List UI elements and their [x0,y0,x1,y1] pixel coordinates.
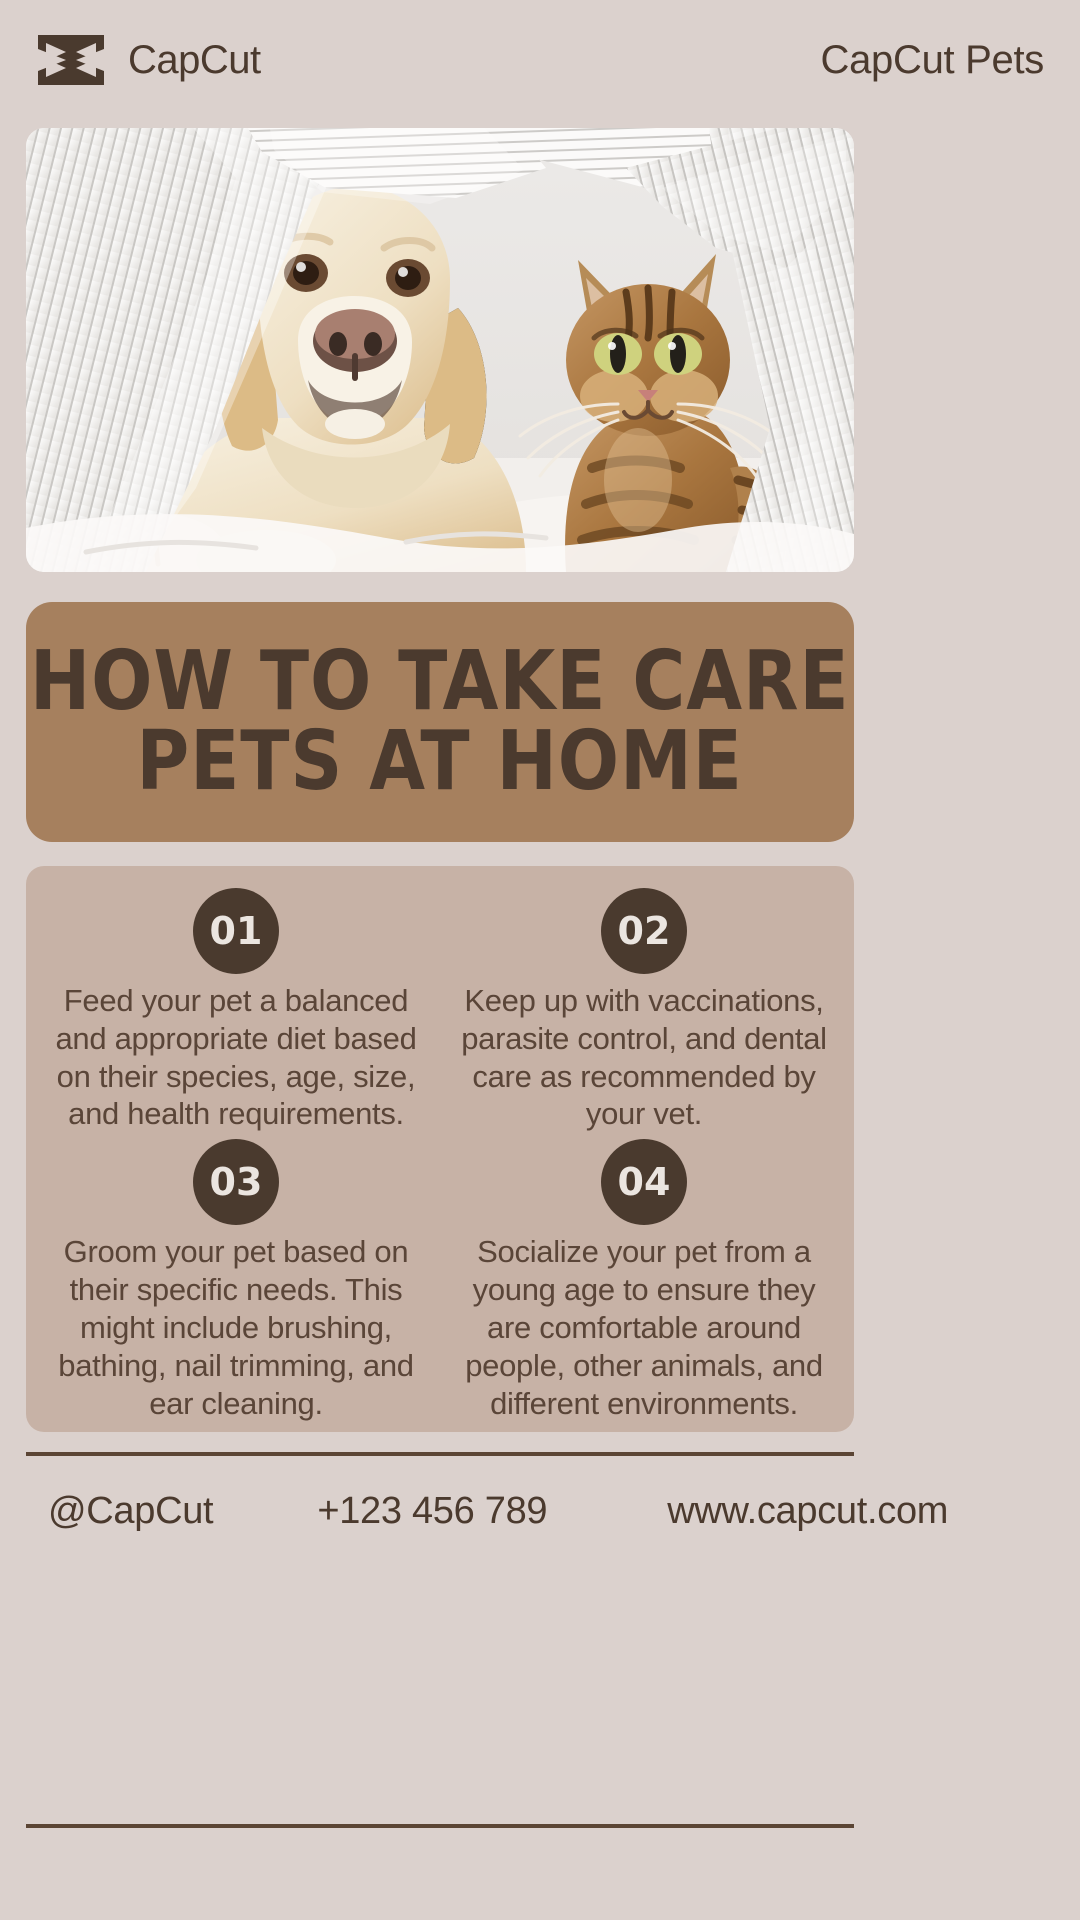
brand-name: CapCut [128,38,261,83]
title-banner: HOW TO TAKE CARE PETS AT HOME [26,602,854,842]
footer-social-handle[interactable]: @CapCut [48,1490,213,1533]
tip-number-badge: 01 [193,888,279,974]
tip-text: Feed your pet a balanced and appropriate… [50,982,422,1133]
title-line-1: HOW TO TAKE CARE [30,642,850,722]
tip-item-03: 03 Groom your pet based on their specifi… [40,1139,432,1422]
tip-number-badge: 02 [601,888,687,974]
tip-item-04: 04 Socialize your pet from a young age t… [448,1139,840,1422]
capcut-logo-icon [32,29,110,91]
tips-card: 01 Feed your pet a balanced and appropri… [26,866,854,1432]
tip-number-badge: 03 [193,1139,279,1225]
tip-number-badge: 04 [601,1139,687,1225]
infographic-poster: CapCut CapCut Pets [0,0,1080,1920]
tip-text: Groom your pet based on their specific n… [50,1233,422,1422]
footer-divider-bottom [26,1824,854,1828]
tip-item-02: 02 Keep up with vaccinations, parasite c… [448,888,840,1133]
brand: CapCut [32,29,261,91]
footer-website[interactable]: www.capcut.com [667,1490,948,1533]
header: CapCut CapCut Pets [0,0,1080,120]
hero-image [26,128,854,572]
footer-phone[interactable]: +123 456 789 [317,1490,547,1533]
tip-text: Keep up with vaccinations, parasite cont… [458,982,830,1133]
tips-grid: 01 Feed your pet a balanced and appropri… [40,888,840,1414]
footer: @CapCut +123 456 789 www.capcut.com [26,1452,854,1824]
tip-text: Socialize your pet from a young age to e… [458,1233,830,1422]
title-line-2: PETS AT HOME [137,722,743,802]
header-right-label: CapCut Pets [821,38,1044,83]
tip-item-01: 01 Feed your pet a balanced and appropri… [40,888,432,1133]
